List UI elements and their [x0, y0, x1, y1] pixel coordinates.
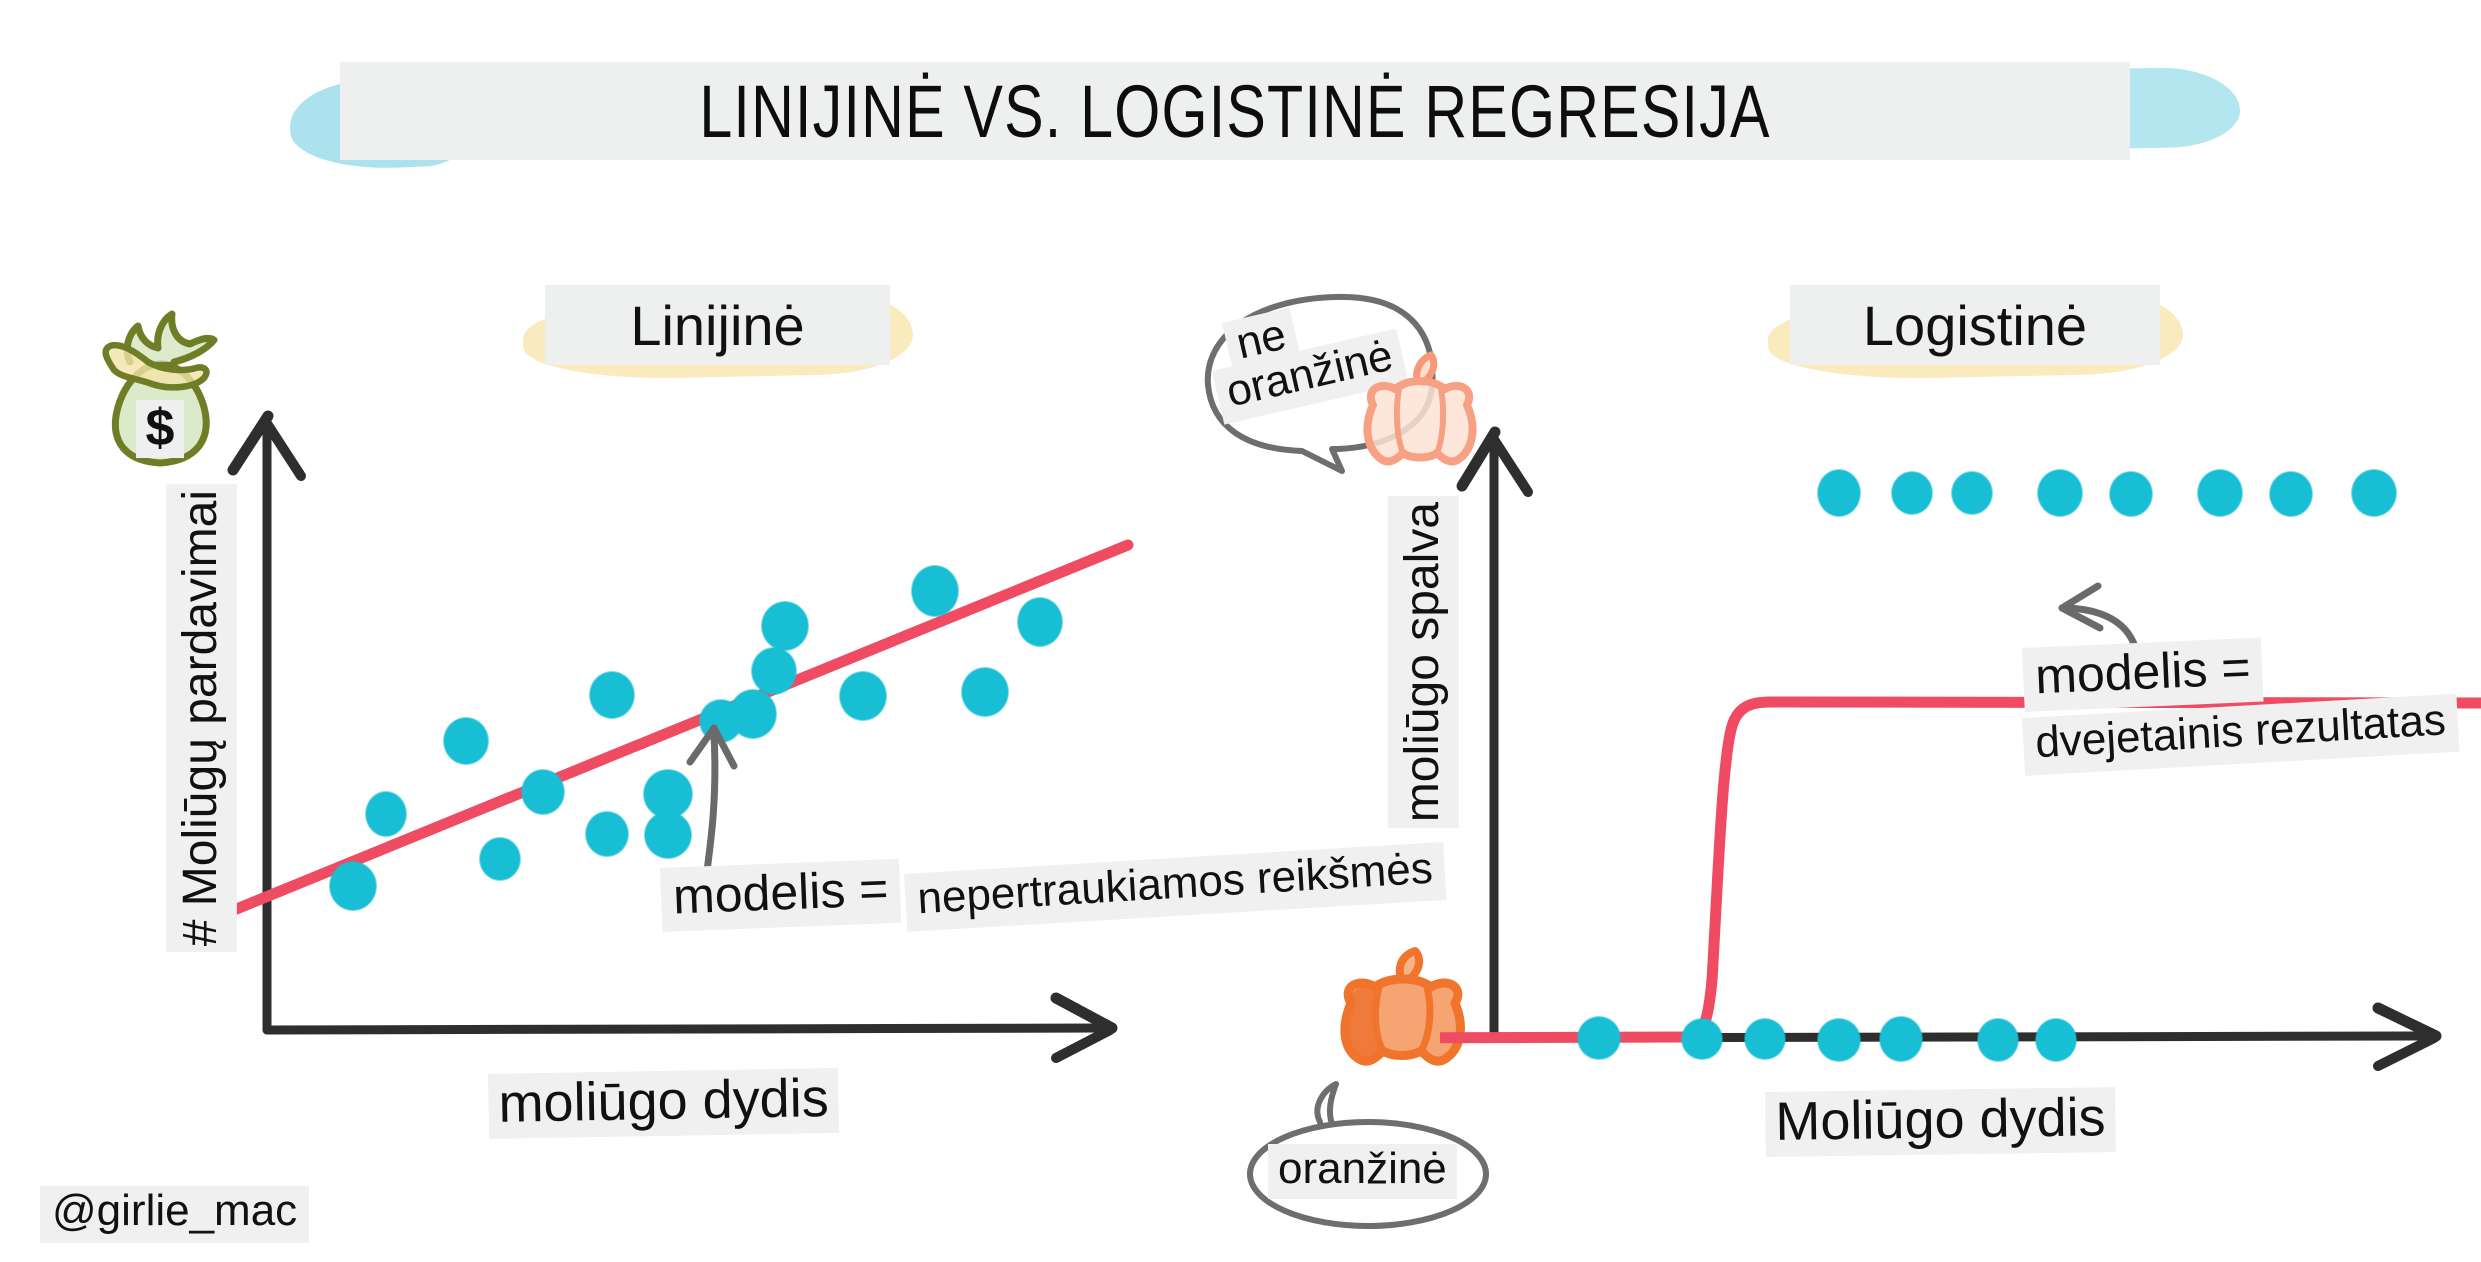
scatter-dot — [1578, 1017, 1620, 1059]
scatter-dot — [1892, 472, 1932, 514]
scatter-dot — [2198, 470, 2242, 516]
right-y-axis-label: moliūgo spalva — [1388, 496, 1459, 828]
right-annotation: modelis = dvejetainis rezultatas — [2022, 648, 2481, 776]
scatter-dot — [1745, 1019, 1785, 1059]
scatter-dot — [2038, 470, 2082, 516]
watermark: @girlie_mac — [40, 1186, 309, 1243]
scatter-dot — [1978, 1019, 2018, 1061]
right-x-axis-label: Moliūgo dydis — [1765, 1087, 2116, 1157]
scatter-dot — [1818, 1019, 1860, 1061]
scatter-dot — [1880, 1017, 1922, 1061]
scatter-dot — [1818, 470, 1860, 516]
scatter-dot — [2270, 472, 2312, 516]
right-annotation-line1: modelis = — [2022, 638, 2264, 712]
infographic-canvas: LINIJINĖ VS. LOGISTINĖ REGRESIJA Linijin… — [0, 0, 2481, 1262]
scatter-dot — [2036, 1019, 2076, 1061]
scatter-dot — [2110, 472, 2152, 516]
scatter-dot — [2352, 470, 2396, 516]
scatter-dot — [1682, 1019, 1722, 1059]
scatter-dot — [1952, 472, 1992, 514]
